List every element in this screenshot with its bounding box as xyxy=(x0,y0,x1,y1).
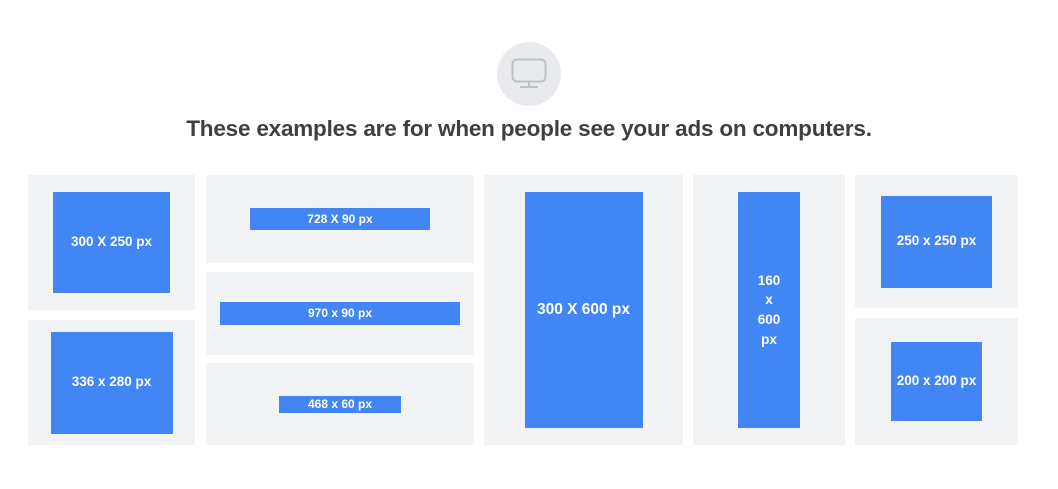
ad-size-label-336x280: 336 x 280 px xyxy=(51,332,173,434)
ad-size-label-728x90: 728 X 90 px xyxy=(250,208,430,230)
ad-size-card-300x250: 300 X 250 px xyxy=(28,175,195,310)
ad-size-label-970x90: 970 x 90 px xyxy=(220,302,460,325)
ad-size-card-200x200: 200 x 200 px xyxy=(855,318,1018,445)
ad-size-label-300x600: 300 X 600 px xyxy=(525,192,643,428)
ad-size-card-250x250: 250 x 250 px xyxy=(855,175,1018,308)
ad-size-label-line-3: 600 xyxy=(758,310,781,330)
ad-size-examples-grid: 300 X 250 px 336 x 280 px 728 X 90 px 97… xyxy=(0,0,1058,489)
ad-size-label-line-2: x xyxy=(765,290,773,310)
ad-size-label-200x200: 200 x 200 px xyxy=(891,342,982,421)
ad-size-card-300x600: 300 X 600 px xyxy=(484,175,683,445)
ad-size-label-468x60: 468 x 60 px xyxy=(279,396,401,413)
ad-size-card-336x280: 336 x 280 px xyxy=(28,320,195,445)
ad-size-label-300x250: 300 X 250 px xyxy=(53,192,170,293)
ad-size-card-728x90: 728 X 90 px xyxy=(206,175,474,263)
ad-size-card-970x90: 970 x 90 px xyxy=(206,272,474,355)
ad-size-label-160x600: 160 x 600 px xyxy=(738,192,800,428)
ad-size-card-160x600: 160 x 600 px xyxy=(693,175,845,445)
ad-size-label-line-1: 160 xyxy=(758,271,781,291)
ad-size-label-line-4: px xyxy=(761,330,777,350)
ad-size-label-250x250: 250 x 250 px xyxy=(881,196,992,288)
ad-size-card-468x60: 468 x 60 px xyxy=(206,363,474,445)
